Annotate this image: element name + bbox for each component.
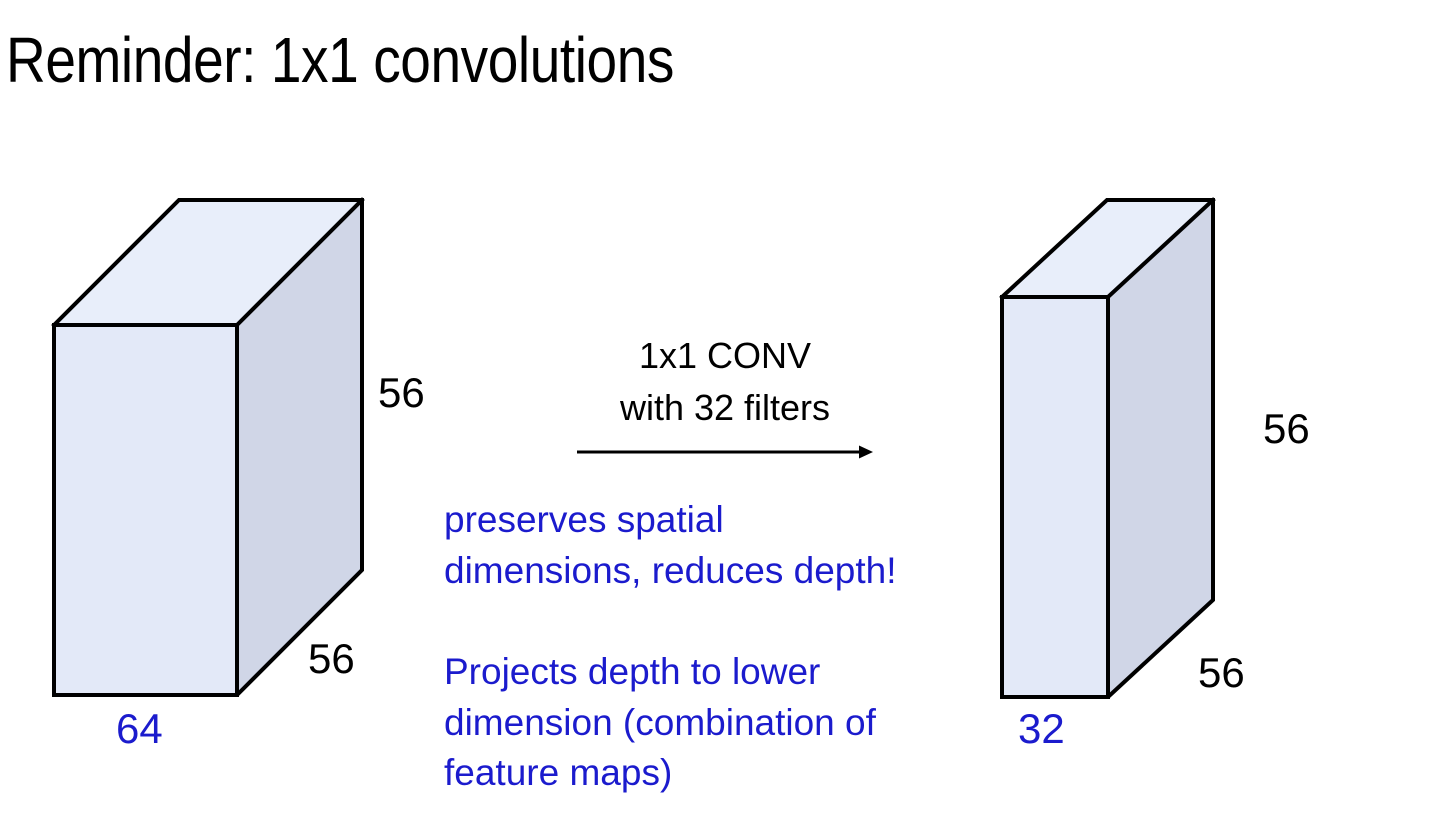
- note-projects-depth: Projects depth to lower dimension (combi…: [444, 647, 984, 799]
- output-volume-cuboid: [988, 186, 1248, 712]
- input-volume-depth-label: 56: [308, 638, 355, 680]
- slide-canvas: Reminder: 1x1 convolutions 56 56 64 1x1 …: [0, 0, 1440, 816]
- input-volume-height-label: 56: [378, 372, 425, 414]
- input-volume-front-face: [54, 325, 237, 695]
- conv-operation-caption: 1x1 CONV with 32 filters: [545, 330, 905, 434]
- input-volume-cuboid: [40, 186, 380, 712]
- note-preserves-spatial-dimensions: preserves spatial dimensions, reduces de…: [444, 495, 984, 596]
- output-volume-height-label: 56: [1263, 408, 1310, 450]
- output-volume-channels-label: 32: [1018, 708, 1065, 750]
- conv-arrow-icon: [575, 438, 875, 466]
- page-title: Reminder: 1x1 convolutions: [6, 26, 674, 95]
- output-volume-front-face: [1002, 297, 1108, 697]
- input-volume-channels-label: 64: [116, 708, 163, 750]
- output-volume-depth-label: 56: [1198, 652, 1245, 694]
